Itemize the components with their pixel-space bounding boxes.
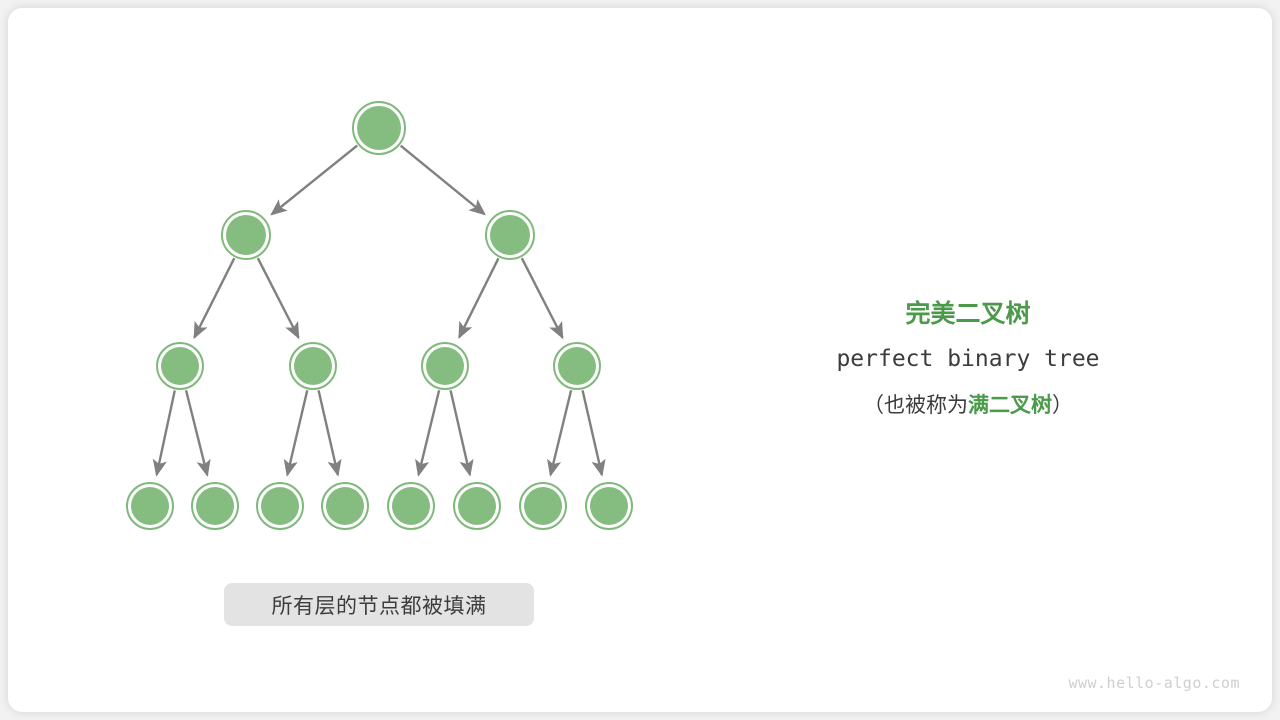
tree-node — [257, 483, 303, 529]
tree-node-fill — [426, 347, 464, 385]
tree-node-fill — [392, 487, 430, 525]
legend-block: 完美二叉树 perfect binary tree （也被称为满二叉树） — [818, 292, 1118, 428]
tree-node — [322, 483, 368, 529]
tree-edge — [522, 258, 563, 337]
tree-node — [422, 343, 468, 389]
tree-node — [486, 211, 534, 259]
tree-node-fill — [524, 487, 562, 525]
tree-edge — [258, 258, 299, 337]
caption-label: 所有层的节点都被填满 — [272, 590, 487, 620]
tree-node-fill — [558, 347, 596, 385]
tree-edge — [451, 390, 470, 474]
legend-english-term: perfect binary tree — [818, 336, 1118, 382]
tree-node — [222, 211, 270, 259]
tree-node — [586, 483, 632, 529]
tree-node-fill — [326, 487, 364, 525]
tree-node — [290, 343, 336, 389]
tree-node — [353, 102, 405, 154]
site-watermark: www.hello-algo.com — [1068, 674, 1240, 692]
tree-edge — [186, 390, 207, 475]
tree-edge — [272, 146, 357, 215]
tree-edge — [583, 390, 602, 474]
tree-node-fill — [226, 215, 266, 255]
tree-node — [157, 343, 203, 389]
tree-edge — [401, 146, 485, 214]
tree-node-fill — [131, 487, 169, 525]
tree-edge — [459, 258, 498, 337]
tree-node-fill — [294, 347, 332, 385]
tree-node-fill — [490, 215, 530, 255]
tree-node — [192, 483, 238, 529]
tree-edge — [287, 390, 307, 475]
tree-edge — [419, 390, 440, 475]
legend-alias-highlight: 满二叉树 — [968, 393, 1052, 417]
tree-node-fill — [458, 487, 496, 525]
tree-node-fill — [196, 487, 234, 525]
tree-edge — [551, 390, 572, 475]
tree-edge — [194, 258, 234, 337]
tree-edge — [157, 390, 175, 474]
tree-node — [554, 343, 600, 389]
diagram-page: 所有层的节点都被填满 完美二叉树 perfect binary tree （也被… — [0, 0, 1280, 720]
tree-edge-layer — [157, 146, 602, 475]
tree-node — [127, 483, 173, 529]
caption-badge: 所有层的节点都被填满 — [224, 583, 534, 626]
legend-alias: （也被称为满二叉树） — [818, 382, 1118, 428]
tree-node — [520, 483, 566, 529]
tree-node — [388, 483, 434, 529]
tree-node-layer — [127, 102, 632, 529]
tree-node-fill — [161, 347, 199, 385]
tree-node — [454, 483, 500, 529]
legend-alias-prefix: （也被称为 — [863, 393, 968, 417]
tree-node-fill — [357, 106, 401, 150]
legend-title: 完美二叉树 — [818, 292, 1118, 336]
tree-node-fill — [590, 487, 628, 525]
legend-alias-suffix: ） — [1052, 393, 1073, 417]
tree-edge — [319, 390, 338, 474]
tree-node-fill — [261, 487, 299, 525]
